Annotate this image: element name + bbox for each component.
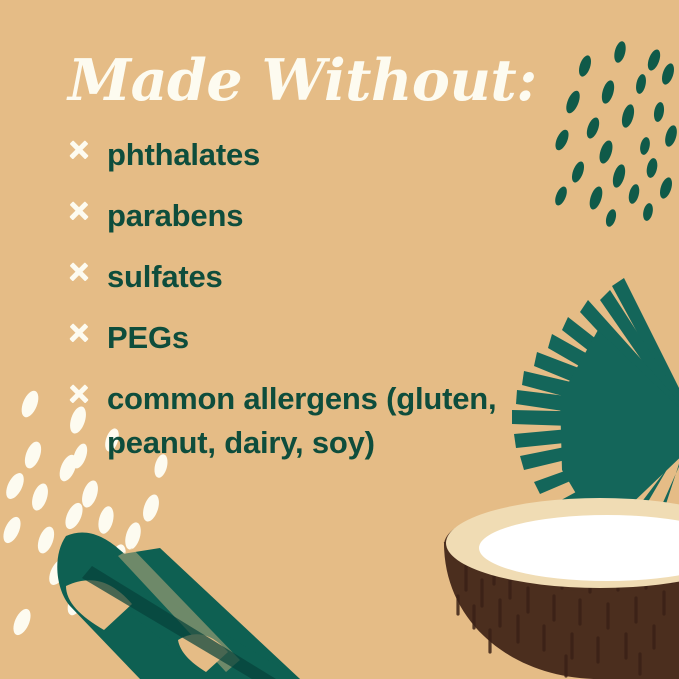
list-item-label: phthalates: [107, 133, 260, 177]
list-item-label: common allergens (gluten, peanut, dairy,…: [107, 377, 587, 465]
list-item-label: PEGs: [107, 316, 189, 360]
list-item: phthalates: [68, 133, 628, 177]
list-item: sulfates: [68, 255, 628, 299]
list-item-label: sulfates: [107, 255, 223, 299]
poster-content: Made Without: phthalates parabens sulfat…: [0, 0, 679, 679]
list-item: common allergens (gluten, peanut, dairy,…: [68, 377, 628, 465]
list-item: PEGs: [68, 316, 628, 360]
made-without-list: phthalates parabens sulfates PEGs common…: [68, 133, 628, 482]
made-without-poster: Made Without: phthalates parabens sulfat…: [0, 0, 679, 679]
list-item: parabens: [68, 194, 628, 238]
x-mark-icon: [68, 200, 90, 222]
x-mark-icon: [68, 261, 90, 283]
x-mark-icon: [68, 383, 90, 405]
x-mark-icon: [68, 322, 90, 344]
page-title: Made Without:: [68, 52, 537, 109]
x-mark-icon: [68, 139, 90, 161]
list-item-label: parabens: [107, 194, 243, 238]
